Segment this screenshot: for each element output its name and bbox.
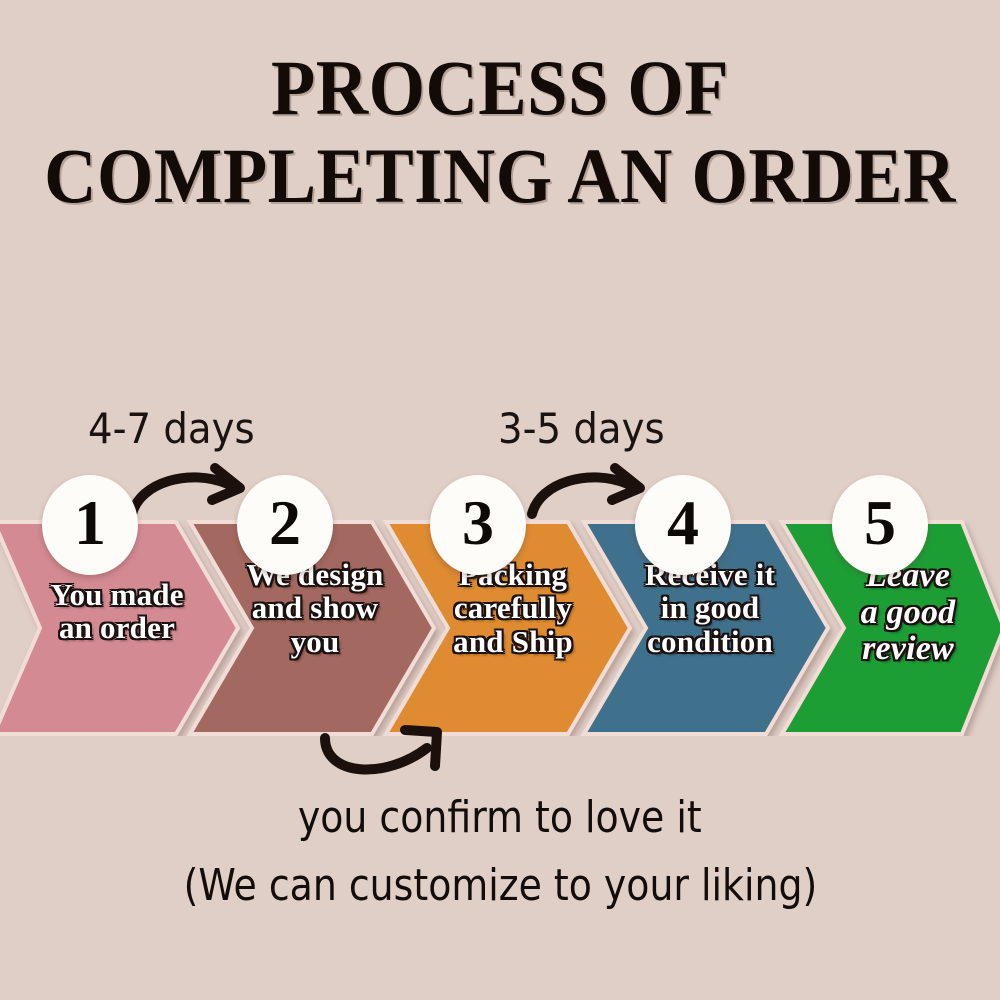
step-number-5: 5 (864, 491, 896, 555)
step-number-badge-3[interactable]: 3 (430, 475, 526, 575)
title-line-1: PROCESS OF (35, 48, 965, 128)
step-number-4: 4 (667, 491, 699, 555)
footer-line-1-text: you confirm to love it (298, 792, 702, 843)
step-number-3: 3 (462, 491, 494, 555)
step-number-badge-4[interactable]: 4 (635, 475, 731, 575)
step-number-badge-5[interactable]: 5 (832, 475, 928, 575)
footer-line-2: (We can customize to your liking) (0, 860, 1000, 911)
arrow-confirm-icon (315, 718, 475, 798)
step-number-2: 2 (269, 491, 301, 555)
page-title: PROCESS OF COMPLETING AN ORDER (0, 48, 1000, 215)
duration-label-step3-step4: 3-5 days (498, 404, 665, 453)
footer-line-1: you confirm to love it (0, 792, 1000, 843)
step-number-badge-2[interactable]: 2 (237, 475, 333, 575)
footer-line-2-text: (We can customize to your liking) (183, 860, 817, 911)
duration-label-step1-step2: 4-7 days (88, 404, 255, 453)
infographic-canvas: PROCESS OF COMPLETING AN ORDER 4-7 days … (0, 0, 1000, 1000)
step-number-badge-1[interactable]: 1 (42, 475, 138, 575)
step-number-1: 1 (74, 491, 106, 555)
title-line-2: COMPLETING AN ORDER (35, 136, 965, 216)
